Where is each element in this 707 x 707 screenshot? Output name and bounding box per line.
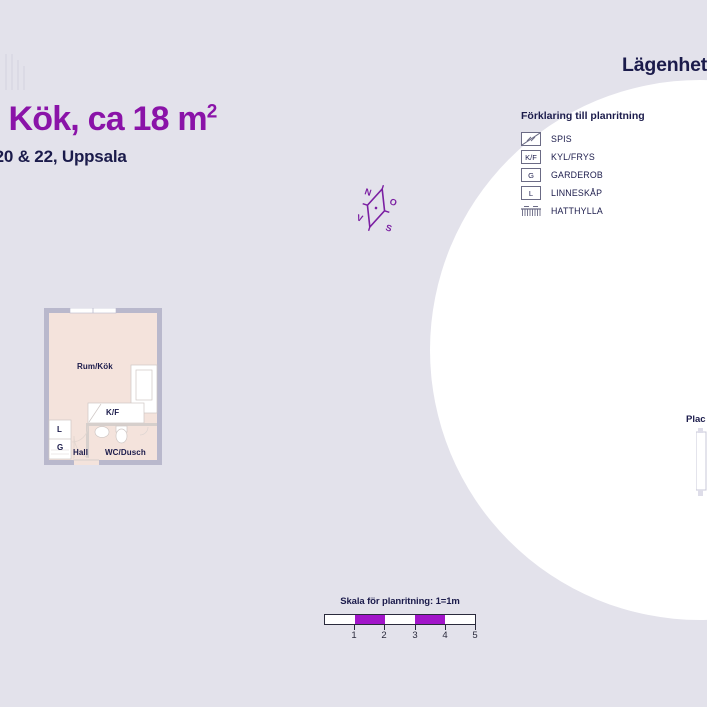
legend: Förklaring till planritning SPIS K/F KYL… xyxy=(521,110,701,220)
scale-segment-3 xyxy=(385,615,415,624)
scale-bar xyxy=(324,614,476,625)
floorplan-poster: Lägenhet m & Kök, ca 18 m2 atan 20 & 22,… xyxy=(0,0,707,707)
fridge-freezer-icon: K/F xyxy=(521,150,541,164)
svg-text:O: O xyxy=(388,196,398,208)
mini-plan-title: Plac xyxy=(686,414,706,425)
compass-icon: N O S V xyxy=(349,182,403,234)
floorplan-label-l: L xyxy=(57,425,62,434)
svg-text:V: V xyxy=(355,212,364,223)
linen-closet-icon: L xyxy=(521,186,541,200)
scale-tick-label-2: 2 xyxy=(381,630,386,641)
scale-segment-5 xyxy=(445,615,475,624)
floorplan-label-hall: Hall xyxy=(73,448,88,457)
scale-bar-group: Skala för planritning: 1=1m 1 2 3 4 5 xyxy=(320,596,480,643)
hat-shelf-icon xyxy=(521,204,541,218)
scale-title: Skala för planritning: 1=1m xyxy=(320,596,480,607)
scale-tick-label-4: 4 xyxy=(442,630,447,641)
floorplan-label-kf: K/F xyxy=(106,408,119,417)
scale-ticks: 1 2 3 4 5 xyxy=(324,625,476,643)
legend-label-spis: SPIS xyxy=(551,134,572,144)
apartment-title: m & Kök, ca 18 m2 xyxy=(0,100,217,139)
wardrobe-icon: G xyxy=(521,168,541,182)
apartment-title-text: m & Kök, ca 18 m xyxy=(0,100,207,138)
legend-item-garderob: G GARDEROB xyxy=(521,166,701,184)
legend-label-kylfrys: KYL/FRYS xyxy=(551,152,595,162)
floorplan-label-wcdusch: WC/Dusch xyxy=(105,448,146,457)
stove-icon xyxy=(521,132,541,146)
legend-label-hatthylla: HATTHYLLA xyxy=(551,206,603,216)
legend-item-hatthylla: HATTHYLLA xyxy=(521,202,701,220)
page-title: Lägenhet xyxy=(622,54,707,77)
scale-segment-2 xyxy=(355,615,385,624)
floorplan-label-rumkok: Rum/Kök xyxy=(77,362,113,371)
legend-label-linneskap: LINNESKÅP xyxy=(551,188,602,198)
floorplan-drawing: Rum/Kök K/F Hall WC/Dusch L G xyxy=(44,308,162,465)
watermark-icon xyxy=(2,52,28,92)
legend-title: Förklaring till planritning xyxy=(521,110,701,122)
svg-text:N: N xyxy=(363,186,372,198)
scale-tick-label-1: 1 xyxy=(351,630,356,641)
scale-segment-4 xyxy=(415,615,445,624)
floorplan-label-g: G xyxy=(57,443,63,452)
scale-tick-label-5: 5 xyxy=(472,630,477,641)
legend-item-kylfrys: K/F KYL/FRYS xyxy=(521,148,701,166)
legend-item-linneskap: L LINNESKÅP xyxy=(521,184,701,202)
floorplan-svg xyxy=(44,308,162,465)
scale-segment-1 xyxy=(325,615,355,624)
mini-plan-drawing xyxy=(696,428,707,496)
legend-item-spis: SPIS xyxy=(521,130,701,148)
square-meter-superscript: 2 xyxy=(207,102,217,123)
scale-tick-label-3: 3 xyxy=(412,630,417,641)
svg-text:S: S xyxy=(384,222,393,233)
apartment-address: atan 20 & 22, Uppsala xyxy=(0,147,127,167)
legend-label-garderob: GARDEROB xyxy=(551,170,603,180)
